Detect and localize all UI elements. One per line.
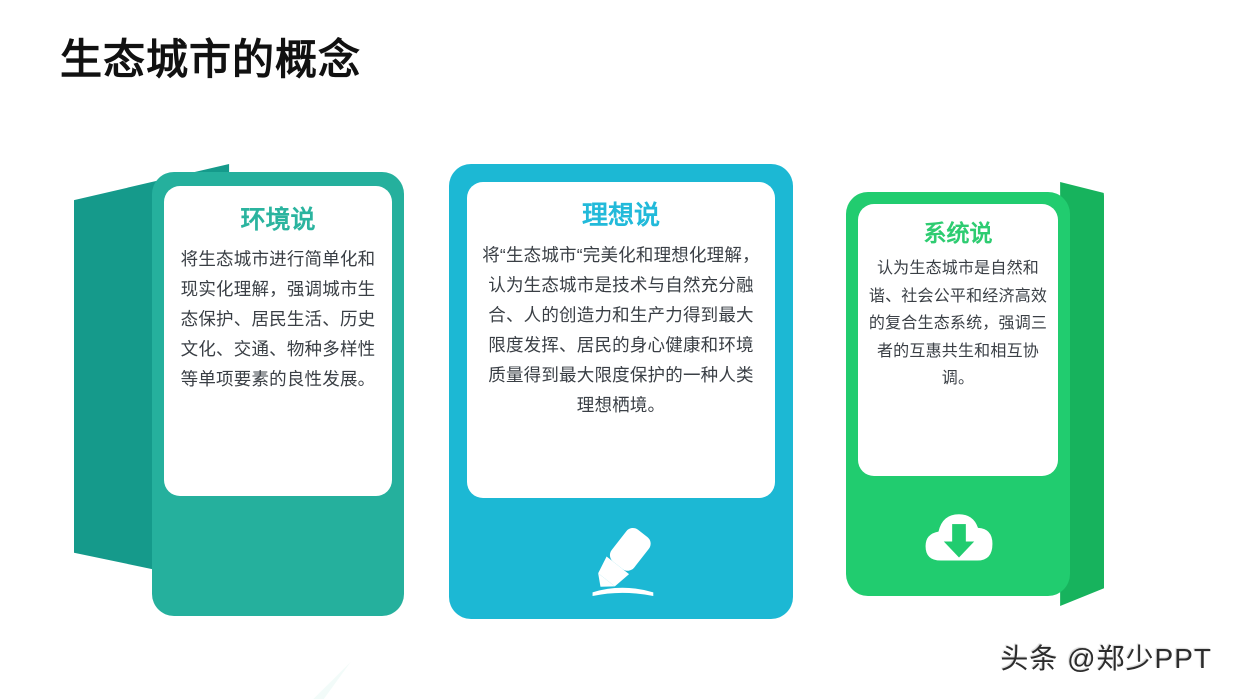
concept-card-system[interactable]: 系统说 认为生态城市是自然和谐、社会公平和经济高效的复合生态系统，强调三者的互惠… xyxy=(846,182,1104,606)
paper-plane-icon xyxy=(270,662,362,699)
card-heading-ideal: 理想说 xyxy=(582,202,660,228)
highlighter-pen-icon xyxy=(576,522,668,602)
card-heading-system: 系统说 xyxy=(924,222,993,245)
concept-card-environment[interactable]: 环境说 将生态城市进行简单化和现实化理解，强调城市生态保护、居民生活、历史文化、… xyxy=(74,164,404,616)
card-body-ideal: 将“生态城市“完美化和理想化理解，认为生态城市是技术与自然充分融合、人的创造力和… xyxy=(481,240,761,421)
card-heading-environment: 环境说 xyxy=(240,208,315,233)
card-content-panel: 系统说 认为生态城市是自然和谐、社会公平和经济高效的复合生态系统，强调三者的互惠… xyxy=(858,204,1058,476)
concept-card-ideal[interactable]: 理想说 将“生态城市“完美化和理想化理解，认为生态城市是技术与自然充分融合、人的… xyxy=(449,164,793,619)
card-body-system: 认为生态城市是自然和谐、社会公平和经济高效的复合生态系统，强调三者的互惠共生和相… xyxy=(867,255,1049,393)
card-body-environment: 将生态城市进行简单化和现实化理解，强调城市生态保护、居民生活、历史文化、交通、物… xyxy=(176,244,380,394)
cloud-download-icon xyxy=(921,504,997,570)
card-content-panel: 理想说 将“生态城市“完美化和理想化理解，认为生态城市是技术与自然充分融合、人的… xyxy=(467,182,775,498)
card-content-panel: 环境说 将生态城市进行简单化和现实化理解，强调城市生态保护、居民生活、历史文化、… xyxy=(164,186,392,496)
page-title: 生态城市的概念 xyxy=(60,36,361,84)
watermark-text: 头条 @郑少PPT xyxy=(1000,637,1212,677)
